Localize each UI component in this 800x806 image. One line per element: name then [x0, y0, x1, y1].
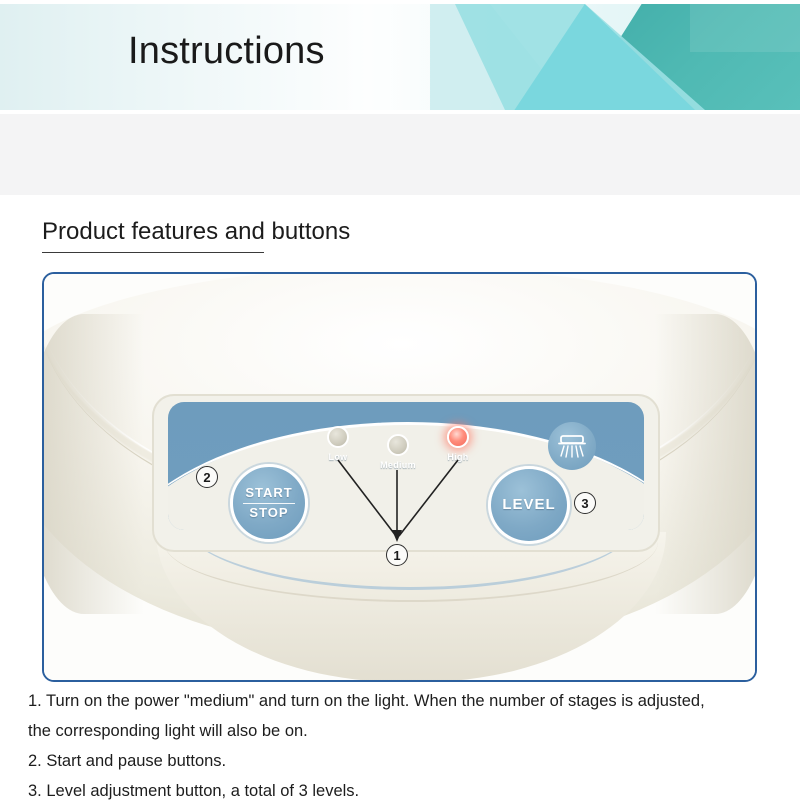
device-right-shoulder-shade [655, 314, 755, 614]
device-left-shoulder-shade [44, 314, 144, 614]
instruction-line-3: 2. Start and pause buttons. [28, 746, 788, 776]
led-label-low: Low [307, 452, 369, 462]
header-divider-band [0, 114, 800, 195]
section-heading-group: Product features and buttons [42, 218, 462, 253]
header-light-slab-shape [690, 4, 800, 52]
page-title: Instructions [128, 30, 325, 73]
led-indicator-high [447, 426, 469, 448]
instruction-line-4: 3. Level adjustment button, a total of 3… [28, 776, 788, 806]
level-button[interactable]: LEVEL [488, 466, 570, 544]
shower-spray-icon[interactable] [548, 422, 596, 470]
section-underline [42, 252, 264, 253]
start-stop-button[interactable]: START STOP [230, 464, 308, 542]
header-gradient-band [0, 4, 800, 110]
stop-label: STOP [249, 505, 288, 521]
start-stop-divider [243, 503, 295, 504]
callout-2: 2 [196, 466, 218, 488]
section-title: Product features and buttons [42, 218, 462, 252]
instruction-list: 1. Turn on the power "medium" and turn o… [28, 686, 788, 806]
start-label: START [245, 485, 292, 501]
led-label-medium: Medium [367, 460, 429, 470]
level-label: LEVEL [502, 496, 555, 515]
product-photo: Low Medium High START STOP LEVEL [44, 274, 755, 680]
instruction-line-1: 1. Turn on the power "medium" and turn o… [28, 686, 788, 716]
page-header-banner: Instructions [0, 0, 800, 114]
callout-1: 1 [386, 544, 408, 566]
instruction-line-2: the corresponding light will also be on. [28, 716, 788, 746]
led-indicator-medium [387, 434, 409, 456]
callout-3: 3 [574, 492, 596, 514]
led-indicator-low [327, 426, 349, 448]
product-photo-frame: Low Medium High START STOP LEVEL [42, 272, 757, 682]
led-label-high: High [427, 452, 489, 462]
